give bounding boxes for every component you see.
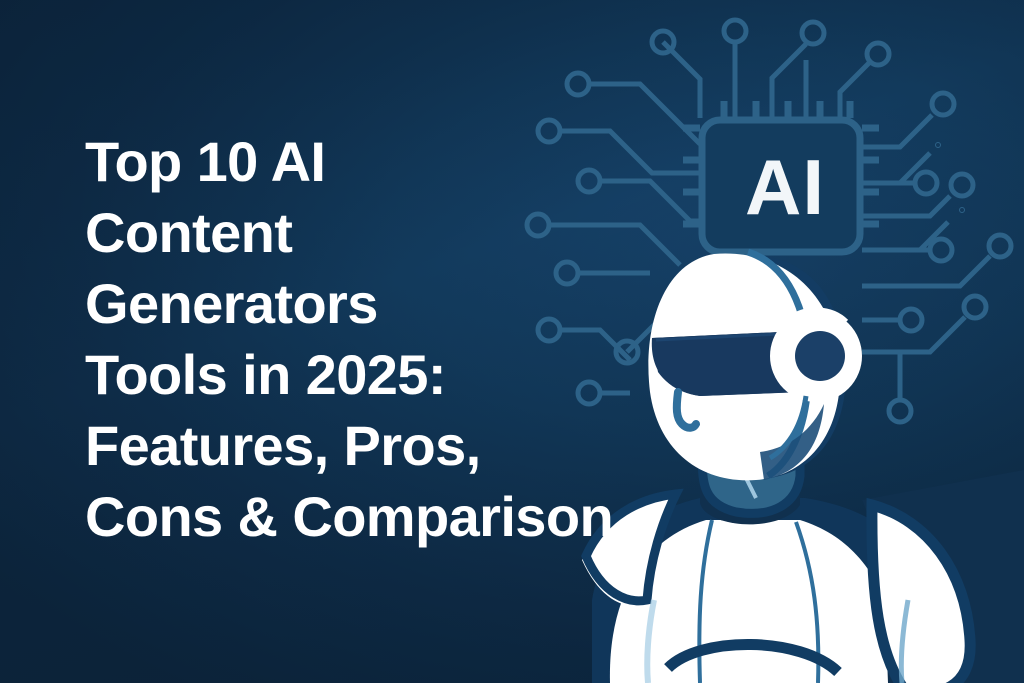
title-line-1: Top 10 AI — [85, 126, 705, 197]
title-line-4: Tools in 2025: — [85, 339, 705, 410]
hero-banner: AI — [0, 0, 1024, 683]
title-line-2: Content — [85, 197, 705, 268]
title-line-3: Generators — [85, 268, 705, 339]
page-title: Top 10 AI Content Generators Tools in 20… — [85, 126, 705, 552]
title-line-5: Features, Pros, — [85, 410, 705, 481]
title-line-6: Cons & Comparison — [85, 481, 705, 552]
